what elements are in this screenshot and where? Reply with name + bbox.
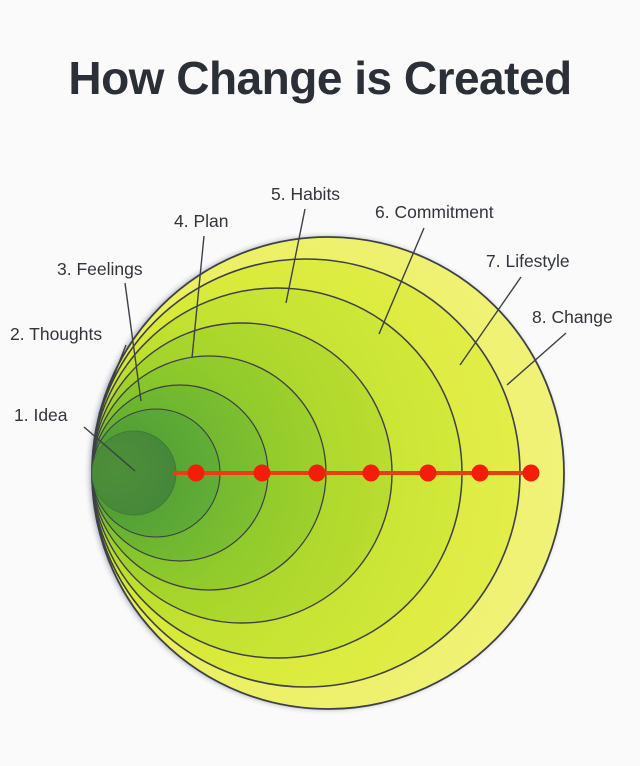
progress-dot-5[interactable] [420, 465, 437, 482]
label-7-lifestyle[interactable]: 7. Lifestyle [486, 251, 570, 271]
ring-1-idea[interactable] [92, 431, 176, 515]
label-6-commitment[interactable]: 6. Commitment [375, 202, 494, 222]
label-4-plan[interactable]: 4. Plan [174, 211, 228, 231]
progress-dot-2[interactable] [254, 465, 271, 482]
label-2-thoughts[interactable]: 2. Thoughts [10, 324, 102, 344]
label-1-idea[interactable]: 1. Idea [14, 405, 68, 425]
progress-dot-6[interactable] [472, 465, 489, 482]
progress-dot-1[interactable] [188, 465, 205, 482]
diagram-page: How Change is Created [0, 0, 640, 766]
label-5-habits[interactable]: 5. Habits [271, 184, 340, 204]
progress-dot-4[interactable] [363, 465, 380, 482]
progress-dot-3[interactable] [309, 465, 326, 482]
label-8-change[interactable]: 8. Change [532, 307, 613, 327]
label-3-feelings[interactable]: 3. Feelings [57, 259, 143, 279]
progress-dot-7[interactable] [523, 465, 540, 482]
change-circles-diagram: 1. Idea 2. Thoughts 3. Feelings 4. Plan … [0, 0, 640, 766]
